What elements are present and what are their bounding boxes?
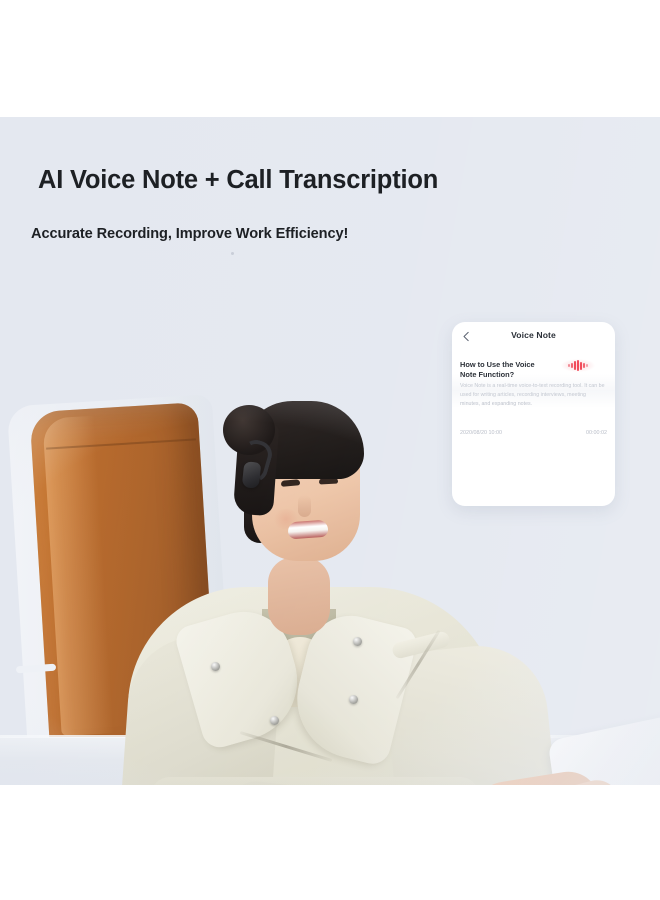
note-timestamp: 2020/08/20 10:00: [460, 430, 502, 436]
card-header: Voice Note: [452, 322, 615, 352]
note-duration: 00:00:02: [586, 430, 607, 436]
top-white-band: [0, 0, 660, 117]
jacket-hem: [150, 777, 480, 785]
neck: [268, 557, 330, 635]
audio-waveform-icon: [562, 360, 594, 371]
jacket-snap: [353, 637, 362, 646]
nose: [298, 495, 311, 517]
card-title: Voice Note: [452, 330, 615, 340]
jacket-snap: [270, 716, 279, 725]
page-title: AI Voice Note + Call Transcription: [38, 166, 438, 195]
jacket-snap: [211, 662, 220, 671]
note-title: How to Use the Voice Note Function?: [460, 360, 552, 380]
note-list-item[interactable]: How to Use the Voice Note Function? Voic…: [452, 352, 615, 409]
voice-note-app-card: Voice Note How to Use the Voice Note Fun…: [452, 322, 615, 506]
page-subtitle: Accurate Recording, Improve Work Efficie…: [31, 226, 348, 242]
jacket-snap: [349, 695, 358, 704]
note-meta-row: 2020/08/20 10:00 00:00:02: [460, 430, 607, 436]
bottom-white-band: [0, 785, 660, 900]
smiling-mouth: [287, 520, 328, 540]
promo-banner: AI Voice Note + Call Transcription Accur…: [0, 0, 660, 900]
note-body-text: Voice Note is a real-time voice-to-text …: [460, 382, 606, 409]
image-artifact-speck: [231, 252, 234, 255]
